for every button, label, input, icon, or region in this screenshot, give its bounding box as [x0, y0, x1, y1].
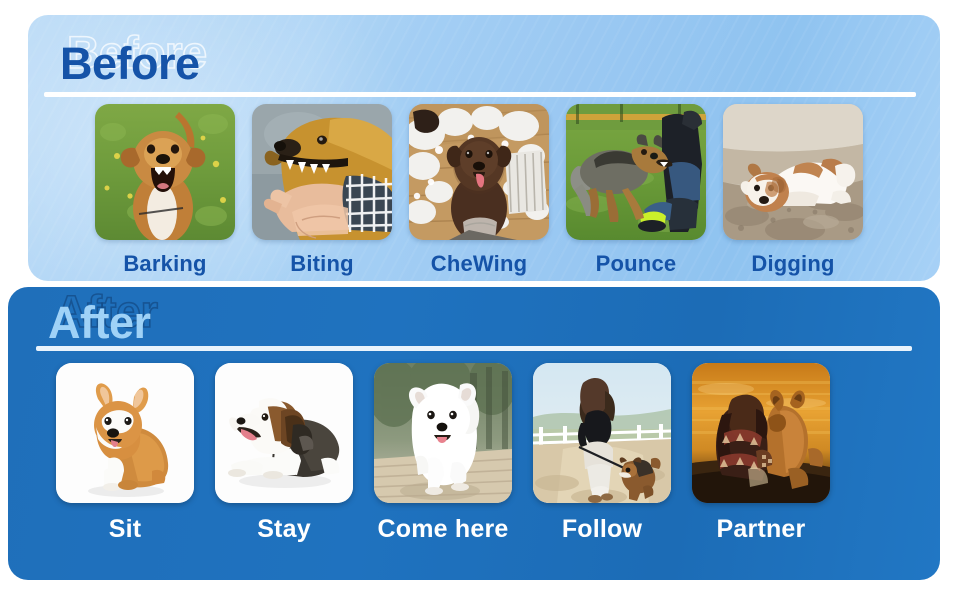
stay-thumbnail[interactable] [215, 363, 353, 503]
before-caption-pounce: Pounce [596, 251, 677, 277]
dog-chewed-mess-image [409, 104, 549, 240]
woman-and-dog-sunset-image [692, 363, 830, 503]
after-card-follow[interactable]: Follow [533, 363, 671, 544]
after-caption-sit: Sit [109, 515, 142, 544]
before-card-chewing[interactable]: CheWing [409, 104, 549, 277]
after-caption-come-here: Come here [377, 515, 508, 544]
before-caption-biting: Biting [290, 251, 354, 277]
infographic-stage: Before Before [0, 0, 970, 600]
woman-walking-dog-image [533, 363, 671, 503]
come-here-thumbnail[interactable] [374, 363, 512, 503]
pounce-thumbnail[interactable] [566, 104, 706, 240]
before-card-barking[interactable]: Barking [95, 104, 235, 277]
sit-thumbnail[interactable] [56, 363, 194, 503]
before-card-biting[interactable]: Biting [252, 104, 392, 277]
dog-barking-image [95, 104, 235, 240]
after-card-partner[interactable]: Partner [692, 363, 830, 544]
after-caption-follow: Follow [562, 515, 642, 544]
after-card-stay[interactable]: Stay [215, 363, 353, 544]
before-card-digging[interactable]: Digging [723, 104, 863, 277]
after-divider [36, 346, 912, 351]
before-caption-chewing: CheWing [431, 251, 528, 277]
dog-pouncing-image [566, 104, 706, 240]
after-caption-partner: Partner [717, 515, 806, 544]
after-title-text: After [48, 295, 151, 351]
biting-thumbnail[interactable] [252, 104, 392, 240]
beagle-lying-down-image [215, 363, 353, 503]
partner-thumbnail[interactable] [692, 363, 830, 503]
after-caption-stay: Stay [257, 515, 311, 544]
corgi-sitting-image [56, 363, 194, 503]
before-title-text: Before [60, 36, 200, 92]
digging-thumbnail[interactable] [723, 104, 863, 240]
follow-thumbnail[interactable] [533, 363, 671, 503]
before-caption-digging: Digging [751, 251, 834, 277]
samoyed-puppy-walking-image [374, 363, 512, 503]
dog-biting-arm-image [252, 104, 392, 240]
after-card-row: Sit [56, 363, 918, 544]
after-card-come-here[interactable]: Come here [374, 363, 512, 544]
before-card-row: Barking [95, 104, 895, 277]
chewing-thumbnail[interactable] [409, 104, 549, 240]
dog-digging-image [723, 104, 863, 240]
after-card-sit[interactable]: Sit [56, 363, 194, 544]
before-divider [44, 92, 916, 97]
before-card-pounce[interactable]: Pounce [566, 104, 706, 277]
before-caption-barking: Barking [123, 251, 206, 277]
barking-thumbnail[interactable] [95, 104, 235, 240]
